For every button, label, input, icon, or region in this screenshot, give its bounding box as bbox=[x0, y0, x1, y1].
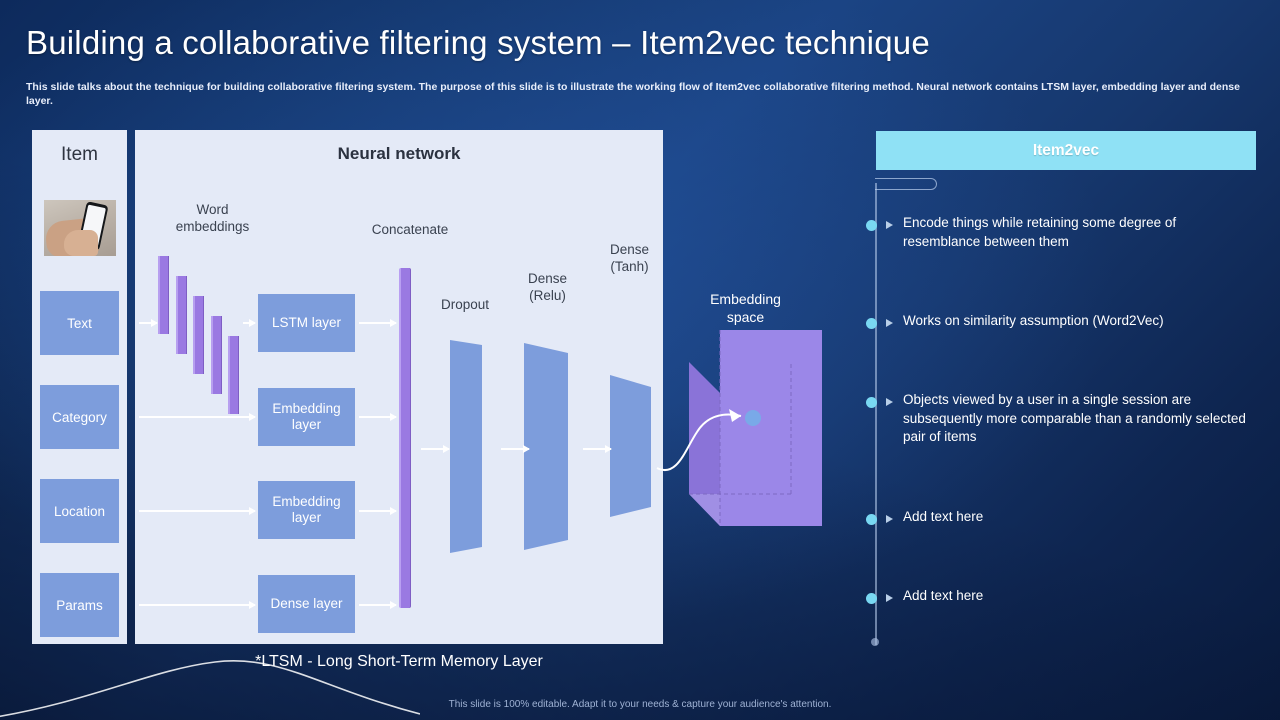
layer-box-embedding-1[interactable]: Embedding layer bbox=[258, 388, 355, 446]
timeline-end-dot bbox=[871, 638, 879, 646]
item-panel: Item Text Category Location Params bbox=[32, 130, 127, 644]
word-embedding-bar-1 bbox=[158, 256, 169, 334]
concatenate-bar bbox=[399, 268, 411, 608]
fingers-shape bbox=[64, 230, 98, 256]
layer-box-label: Embedding layer bbox=[258, 401, 355, 433]
arrow-category-to-embedding bbox=[139, 416, 255, 418]
word-embedding-bar-5 bbox=[228, 336, 239, 414]
bullet-text: Objects viewed by a user in a single ses… bbox=[903, 391, 1255, 447]
slide-root: Building a collaborative filtering syste… bbox=[0, 0, 1280, 720]
bullet-dot-icon bbox=[866, 397, 877, 408]
layer-box-lstm[interactable]: LSTM layer bbox=[258, 294, 355, 352]
layer-box-label: LSTM layer bbox=[272, 315, 341, 331]
bullet-text: Encode things while retaining some degre… bbox=[903, 214, 1255, 251]
item2vec-header-label: Item2vec bbox=[1033, 142, 1099, 160]
dense-relu-label: Dense (Relu) bbox=[505, 271, 590, 305]
arrow-params-to-dense bbox=[139, 604, 255, 606]
arrow-embedding2-to-concat bbox=[359, 510, 396, 512]
hand-holding-phone-photo bbox=[44, 200, 116, 256]
dense-shapes-group bbox=[440, 335, 670, 565]
neural-network-title: Neural network bbox=[135, 144, 663, 164]
dense-relu-shape bbox=[524, 343, 568, 550]
word-embedding-bar-4 bbox=[211, 316, 222, 394]
item-box-label: Category bbox=[52, 410, 107, 425]
bullet-triangle-icon bbox=[886, 319, 893, 327]
bullet-dot-icon bbox=[866, 318, 877, 329]
embedding-space-label: Embedding space bbox=[688, 290, 803, 326]
concatenate-label: Concatenate bbox=[350, 222, 470, 239]
layer-box-label: Embedding layer bbox=[258, 494, 355, 526]
page-title: Building a collaborative filtering syste… bbox=[26, 24, 930, 62]
bullet-triangle-icon bbox=[886, 398, 893, 406]
item-panel-title: Item bbox=[32, 144, 127, 166]
item-box-label: Params bbox=[56, 598, 103, 613]
layer-box-dense[interactable]: Dense layer bbox=[258, 575, 355, 633]
ltsm-footnote: *LTSM - Long Short-Term Memory Layer bbox=[135, 653, 663, 671]
bullet-triangle-icon bbox=[886, 515, 893, 523]
item-box-location[interactable]: Location bbox=[40, 479, 119, 543]
bullet-dot-icon bbox=[866, 220, 877, 231]
bullet-text: Add text here bbox=[903, 587, 1255, 606]
dense-tanh-label: Dense (Tanh) bbox=[587, 242, 672, 276]
item-box-label: Location bbox=[54, 504, 105, 519]
bullet-text: Add text here bbox=[903, 508, 1255, 527]
item-box-label: Text bbox=[67, 316, 92, 331]
item-box-text[interactable]: Text bbox=[40, 291, 119, 355]
slide-footer-note: This slide is 100% editable. Adapt it to… bbox=[0, 699, 1280, 710]
dense-tanh-shape bbox=[610, 375, 651, 517]
bullet-triangle-icon bbox=[886, 594, 893, 602]
arrow-embedding1-to-concat bbox=[359, 416, 396, 418]
arrow-location-to-embedding bbox=[139, 510, 255, 512]
dropout-shape bbox=[450, 340, 482, 553]
word-embeddings-label: Word embeddings bbox=[150, 202, 275, 236]
timeline-line bbox=[875, 183, 877, 645]
arrow-relu-to-tanh bbox=[583, 448, 611, 450]
bullet-text: Works on similarity assumption (Word2Vec… bbox=[903, 312, 1255, 331]
item2vec-header: Item2vec bbox=[876, 131, 1256, 170]
arrow-lstm-to-concat bbox=[359, 322, 396, 324]
bullet-dot-icon bbox=[866, 593, 877, 604]
bullet-triangle-icon bbox=[886, 221, 893, 229]
dropout-label: Dropout bbox=[420, 297, 510, 314]
layer-box-label: Dense layer bbox=[270, 596, 342, 612]
item-box-params[interactable]: Params bbox=[40, 573, 119, 637]
layer-box-embedding-2[interactable]: Embedding layer bbox=[258, 481, 355, 539]
arrow-text-to-embeddings bbox=[139, 322, 157, 324]
bullet-dot-icon bbox=[866, 514, 877, 525]
arrow-to-embedding-space bbox=[655, 390, 770, 480]
word-embedding-bar-2 bbox=[176, 276, 187, 354]
arrow-dropout-to-relu bbox=[501, 448, 529, 450]
word-embedding-bar-3 bbox=[193, 296, 204, 374]
arrow-concat-to-dropout bbox=[421, 448, 449, 450]
arrow-dense-to-concat bbox=[359, 604, 396, 606]
timeline-hook bbox=[875, 178, 937, 190]
page-subtitle: This slide talks about the technique for… bbox=[26, 80, 1256, 108]
item-box-category[interactable]: Category bbox=[40, 385, 119, 449]
arrow-embeddings-to-lstm bbox=[243, 322, 255, 324]
